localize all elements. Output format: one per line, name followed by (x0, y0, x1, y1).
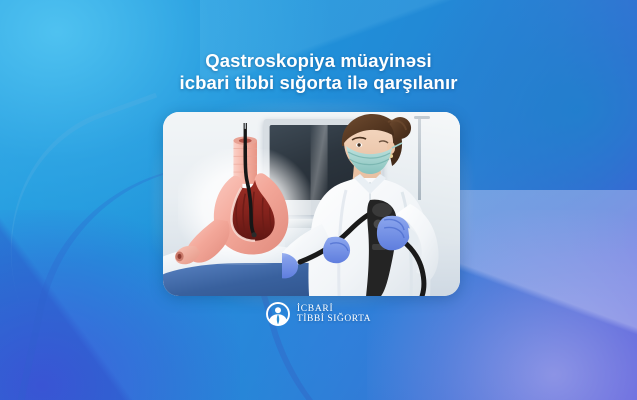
icbari-tibbi-sigorta-logo-icon (266, 302, 290, 326)
headline: Qastroskopiya müayinəsi icbari tibbi sığ… (0, 50, 637, 94)
brand-logo[interactable]: İCBARİ TİBBİ SIĞORTA (0, 302, 637, 326)
brand-logo-line-2: TİBBİ SIĞORTA (297, 314, 371, 325)
stomach-endoscopy-illustration (169, 123, 323, 285)
brand-logo-line-1: İCBARİ (297, 304, 371, 315)
photo-card (163, 112, 460, 296)
insurance-promo-banner: Qastroskopiya müayinəsi icbari tibbi sığ… (0, 0, 637, 400)
headline-line-2: icbari tibbi sığorta ilə qarşılanır (0, 72, 637, 94)
brand-logo-text: İCBARİ TİBBİ SIĞORTA (297, 304, 371, 325)
headline-line-1: Qastroskopiya müayinəsi (0, 50, 637, 72)
doctor-glove-center (323, 237, 350, 264)
